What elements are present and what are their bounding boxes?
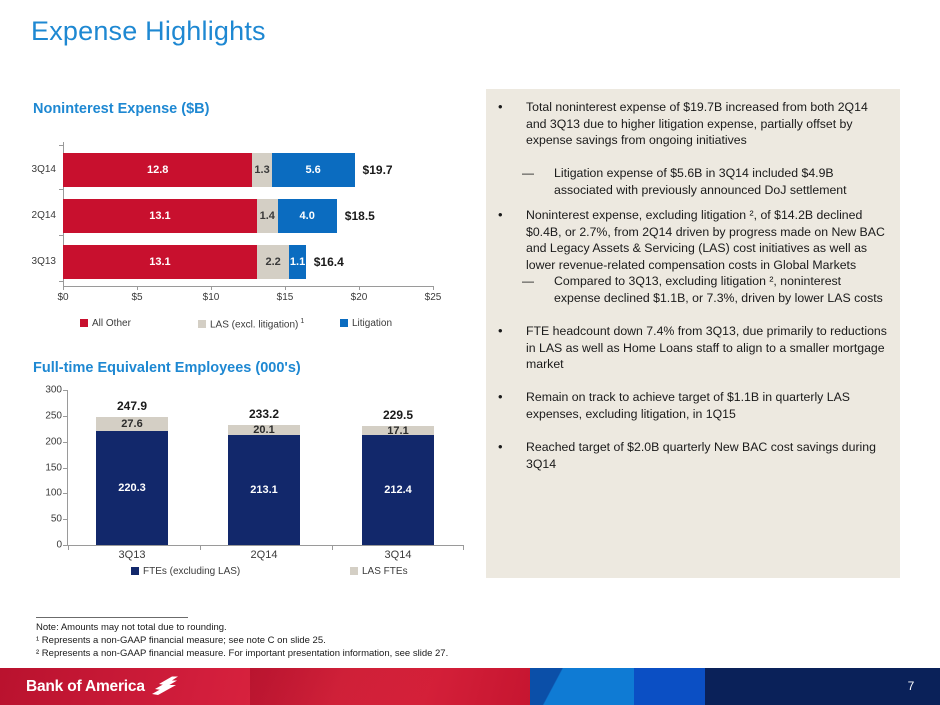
legend-swatch — [80, 319, 88, 327]
bullet-marker-icon: — — [522, 273, 538, 290]
chart2-y-tick — [63, 519, 67, 520]
chart1-y-tick — [59, 235, 63, 236]
chart2-legend-item: LAS FTEs — [350, 566, 408, 577]
chart2-y-tick — [63, 416, 67, 417]
chart2-bar-segment: 27.6 — [96, 417, 168, 431]
chart1-x-tick-label: $0 — [57, 292, 68, 303]
chart1-bar-segment: 1.1 — [289, 245, 305, 279]
bullet-marker-icon: • — [498, 99, 512, 116]
chart2-y-tick — [63, 468, 67, 469]
chart1-bar-segment: 1.4 — [257, 199, 278, 233]
fte-chart: 220.327.6247.9213.120.1233.2212.417.1229… — [20, 385, 470, 560]
chart2-y-tick-label: 100 — [20, 488, 62, 499]
chart2-category-separator — [68, 545, 69, 550]
legend-swatch — [350, 567, 358, 575]
footer-blue-band-2 — [634, 668, 705, 705]
chart1-bar-segment: 5.6 — [272, 153, 355, 187]
chart1-bar-row: 3Q1313.12.21.1$16.4 — [20, 245, 470, 279]
chart2-total-label: 247.9 — [96, 399, 168, 413]
chart1-bar-segment: 13.1 — [63, 199, 257, 233]
highlight-bullet: •Reached target of $2.0B quarterly New B… — [498, 439, 890, 472]
footnote-line: Note: Amounts may not total due to round… — [36, 622, 227, 633]
bullet-text: FTE headcount down 7.4% from 3Q13, due p… — [526, 323, 890, 373]
chart2-bar-segment: 20.1 — [228, 425, 300, 435]
highlight-bullet: •FTE headcount down 7.4% from 3Q13, due … — [498, 323, 890, 373]
bullet-marker-icon: • — [498, 439, 512, 456]
chart1-x-tick — [433, 286, 434, 290]
bullet-text: Total noninterest expense of $19.7B incr… — [526, 99, 890, 149]
chart2-y-tick-label: 150 — [20, 462, 62, 473]
chart2-x-axis-line — [67, 545, 463, 546]
chart2-total-label: 229.5 — [362, 408, 434, 422]
chart1-total-label: $16.4 — [314, 245, 344, 279]
chart1-bar-row: 2Q1413.11.44.0$18.5 — [20, 199, 470, 233]
chart1-bar-segment: 1.3 — [252, 153, 271, 187]
chart1-x-tick — [285, 286, 286, 290]
chart2-heading: Full-time Equivalent Employees (000's) — [33, 360, 301, 376]
chart2-y-tick-label: 300 — [20, 385, 62, 396]
bullet-text: Litigation expense of $5.6B in 3Q14 incl… — [554, 165, 890, 198]
chart2-y-tick — [63, 545, 67, 546]
chart1-x-tick-label: $15 — [277, 292, 294, 303]
chart1-x-axis-line — [63, 286, 433, 287]
page-title: Expense Highlights — [31, 16, 266, 47]
chart2-category-separator — [332, 545, 333, 550]
chart2-legend: FTEs (excluding LAS)LAS FTEs — [20, 566, 470, 582]
chart2-bar-segment: 213.1 — [228, 435, 300, 545]
highlight-bullet: •Noninterest expense, excluding litigati… — [498, 207, 890, 273]
bullet-text: Reached target of $2.0B quarterly New BA… — [526, 439, 890, 472]
footnote-divider — [36, 617, 188, 618]
chart2-bar-segment: 220.3 — [96, 431, 168, 545]
chart1-legend-item: Litigation — [340, 318, 392, 329]
slide-root: Expense Highlights Noninterest Expense (… — [0, 0, 940, 705]
chart2-bar-segment: 17.1 — [362, 426, 434, 435]
chart1-total-label: $18.5 — [345, 199, 375, 233]
chart1-bar-track: 12.81.35.6$19.7 — [63, 153, 433, 187]
chart2-category-separator — [463, 545, 464, 550]
chart1-total-label: $19.7 — [363, 153, 393, 187]
chart1-category-label: 2Q14 — [20, 199, 56, 233]
chart1-y-tick — [59, 189, 63, 190]
footnote-line: ¹ Represents a non-GAAP financial measur… — [36, 635, 326, 646]
legend-label: LAS (excl. litigation) — [210, 319, 298, 330]
legend-label: All Other — [92, 318, 131, 329]
chart1-bar-segment: 13.1 — [63, 245, 257, 279]
highlight-bullet: •Total noninterest expense of $19.7B inc… — [498, 99, 890, 149]
footnote-line: ² Represents a non-GAAP financial measur… — [36, 648, 448, 659]
bullet-marker-icon: — — [522, 165, 538, 182]
legend-swatch — [340, 319, 348, 327]
chart1-bar-track: 13.12.21.1$16.4 — [63, 245, 433, 279]
chart1-heading: Noninterest Expense ($B) — [33, 101, 209, 117]
chart2-legend-item: FTEs (excluding LAS) — [131, 566, 240, 577]
chart1-bar-segment: 12.8 — [63, 153, 252, 187]
highlight-bullet: •Remain on track to achieve target of $1… — [498, 389, 890, 422]
bullet-marker-icon: • — [498, 207, 512, 224]
chart1-bar-segment: 4.0 — [278, 199, 337, 233]
legend-label: Litigation — [352, 318, 392, 329]
chart1-legend: All OtherLAS (excl. litigation) 1Litigat… — [20, 318, 470, 334]
legend-footnote-marker: 1 — [298, 318, 304, 325]
chart2-total-label: 233.2 — [228, 407, 300, 421]
bullet-text: Compared to 3Q13, excluding litigation ²… — [554, 273, 890, 306]
highlights-panel: •Total noninterest expense of $19.7B inc… — [486, 89, 900, 578]
chart1-legend-item: All Other — [80, 318, 131, 329]
bank-of-america-flag-icon — [148, 673, 180, 701]
chart1-category-label: 3Q14 — [20, 153, 56, 187]
chart2-y-tick-label: 200 — [20, 436, 62, 447]
chart2-y-tick-label: 0 — [20, 540, 62, 551]
footer-blue-band-1 — [530, 668, 634, 705]
chart2-category-separator — [200, 545, 201, 550]
bullet-marker-icon: • — [498, 323, 512, 340]
chart2-category-label: 3Q14 — [385, 549, 412, 561]
chart1-legend-item: LAS (excl. litigation) 1 — [198, 318, 304, 330]
bank-of-america-logo-text: Bank of America — [26, 678, 145, 696]
highlight-sub-bullet: —Litigation expense of $5.6B in 3Q14 inc… — [522, 165, 890, 198]
slide-footer: Bank of America 7 — [0, 668, 940, 705]
legend-label: FTEs (excluding LAS) — [143, 566, 240, 577]
chart1-bar-row: 3Q1412.81.35.6$19.7 — [20, 153, 470, 187]
chart2-y-tick-label: 50 — [20, 514, 62, 525]
chart2-y-tick-label: 250 — [20, 410, 62, 421]
chart1-x-tick-label: $20 — [351, 292, 368, 303]
chart1-bar-track: 13.11.44.0$18.5 — [63, 199, 433, 233]
chart1-y-tick — [59, 281, 63, 282]
chart2-y-tick — [63, 442, 67, 443]
chart2-bar-segment: 212.4 — [362, 435, 434, 545]
page-number: 7 — [900, 679, 922, 693]
legend-label: LAS FTEs — [362, 566, 408, 577]
chart2-y-tick — [63, 390, 67, 391]
chart1-x-tick-label: $25 — [425, 292, 442, 303]
legend-swatch — [198, 320, 206, 328]
chart1-x-tick-label: $10 — [203, 292, 220, 303]
chart2-category-label: 3Q13 — [119, 549, 146, 561]
chart1-x-tick-label: $5 — [131, 292, 142, 303]
bullet-text: Noninterest expense, excluding litigatio… — [526, 207, 890, 273]
chart1-x-tick — [359, 286, 360, 290]
chart2-plot-area: 220.327.6247.9213.120.1233.2212.417.1229… — [68, 390, 463, 545]
chart1-x-tick — [137, 286, 138, 290]
chart2-y-tick — [63, 493, 67, 494]
noninterest-expense-chart: 3Q1412.81.35.6$19.72Q1413.11.44.0$18.53Q… — [20, 140, 470, 335]
bullet-text: Remain on track to achieve target of $1.… — [526, 389, 890, 422]
chart1-bar-segment: 2.2 — [257, 245, 290, 279]
chart1-category-label: 3Q13 — [20, 245, 56, 279]
chart1-x-tick — [63, 286, 64, 290]
legend-swatch — [131, 567, 139, 575]
chart1-x-tick — [211, 286, 212, 290]
chart1-y-tick — [59, 145, 63, 146]
highlight-sub-bullet: —Compared to 3Q13, excluding litigation … — [522, 273, 890, 306]
bullet-marker-icon: • — [498, 389, 512, 406]
chart2-category-label: 2Q14 — [251, 549, 278, 561]
